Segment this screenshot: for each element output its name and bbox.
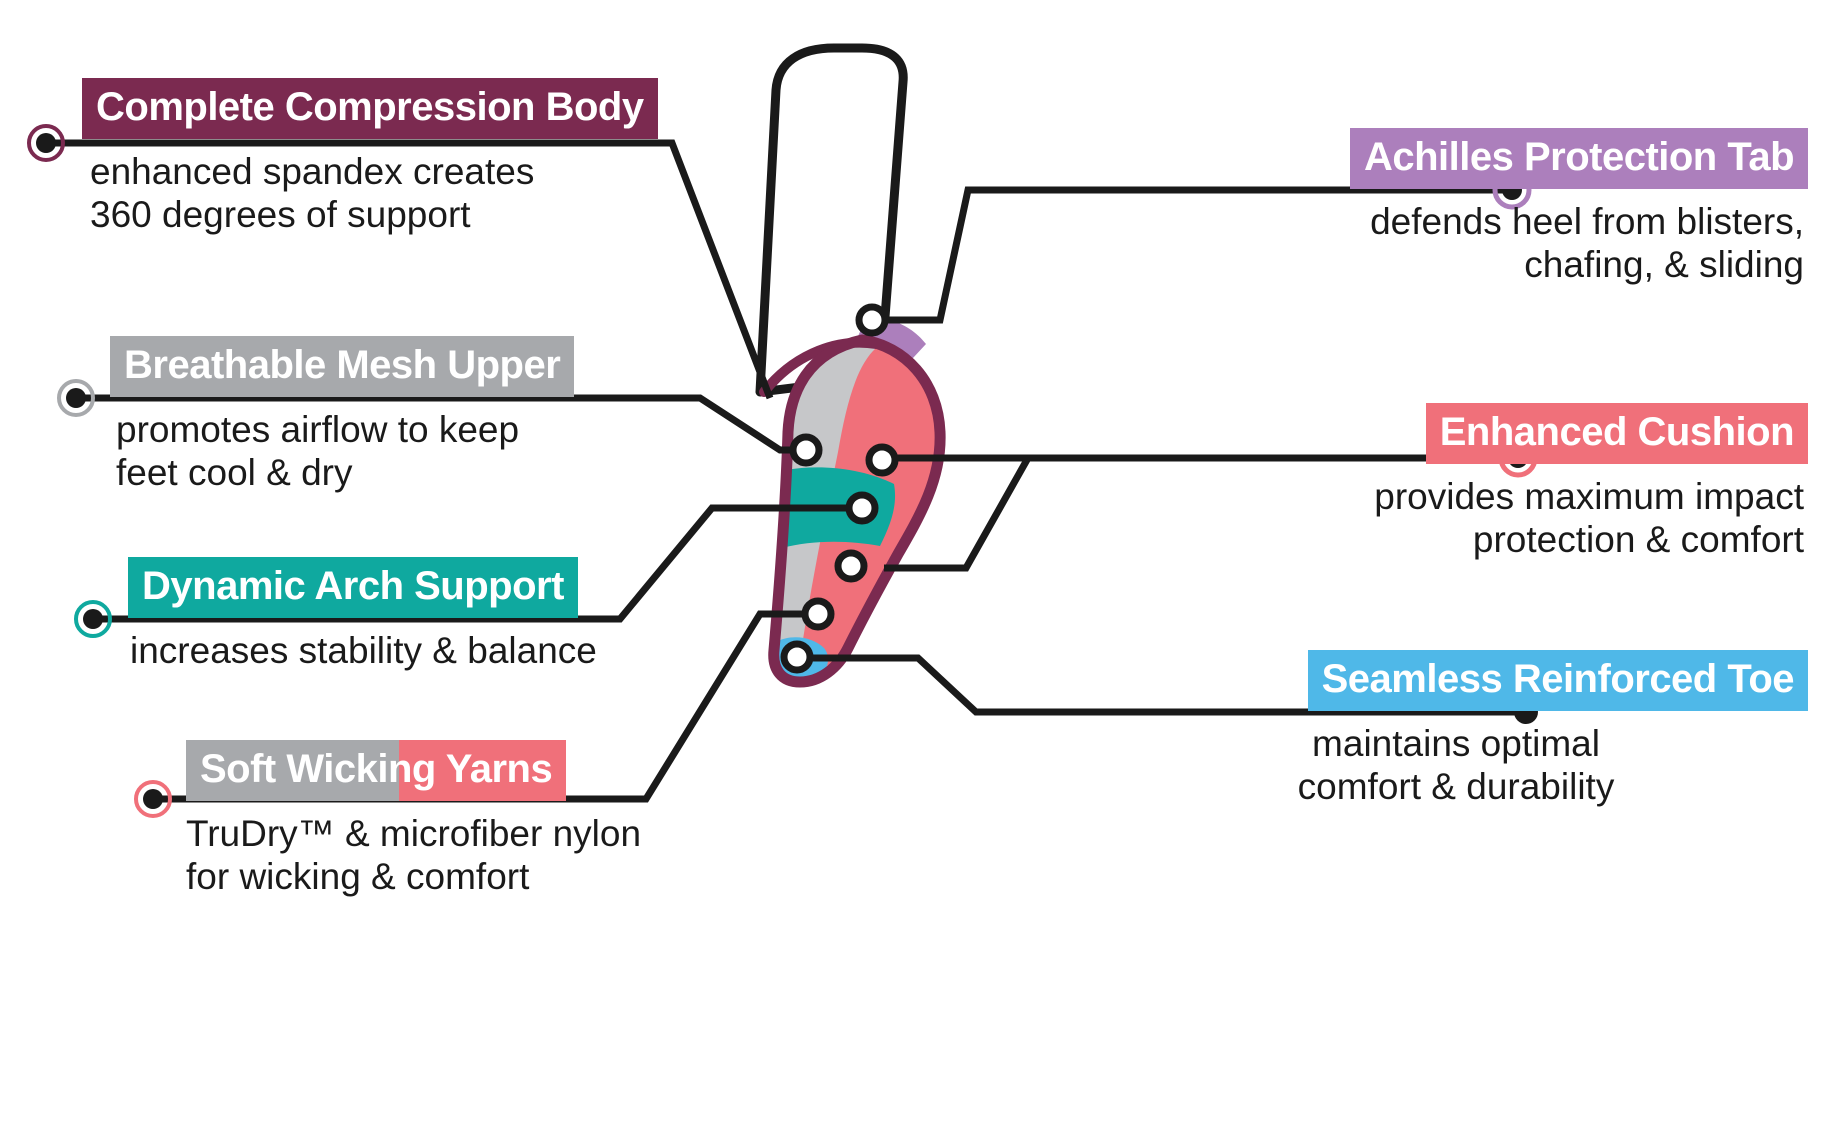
endpoint-dot-soft-wicking-yarns[interactable] bbox=[136, 782, 170, 816]
sock-toe-zone bbox=[771, 637, 828, 684]
callout-enhanced-cushion[interactable]: Enhanced Cushion provides maximum impact… bbox=[1108, 403, 1808, 562]
sock-marker-wicking-yarns bbox=[805, 601, 831, 627]
sock-outline bbox=[774, 340, 940, 682]
callout-description-soft-wicking-yarns: TruDry™ & microfiber nylon for wicking &… bbox=[186, 813, 806, 899]
sock-arch-support-zone bbox=[781, 467, 895, 548]
sock-marker-arch-support bbox=[849, 495, 875, 521]
endpoint-core-dynamic-arch-support bbox=[83, 609, 103, 629]
callout-description-dynamic-arch-support: increases stability & balance bbox=[130, 630, 728, 673]
sock-illustration bbox=[760, 48, 940, 684]
endpoint-dot-dynamic-arch-support[interactable] bbox=[76, 602, 110, 636]
endpoint-dot-complete-compression-body[interactable] bbox=[29, 126, 63, 160]
callout-title-enhanced-cushion: Enhanced Cushion bbox=[1426, 403, 1808, 464]
sock-marker-mesh-upper bbox=[793, 437, 819, 463]
callout-complete-compression-body[interactable]: Complete Compression Body enhanced spand… bbox=[82, 78, 702, 237]
sock-marker-cushion-lower bbox=[838, 553, 864, 579]
callout-title-achilles-protection-tab: Achilles Protection Tab bbox=[1350, 128, 1808, 189]
callout-title-seamless-reinforced-toe: Seamless Reinforced Toe bbox=[1308, 650, 1808, 711]
endpoint-core-complete-compression-body bbox=[36, 133, 56, 153]
callout-title-dynamic-arch-support: Dynamic Arch Support bbox=[128, 557, 578, 618]
sock-cuff-band bbox=[764, 343, 876, 392]
sock-marker-group bbox=[784, 307, 895, 670]
endpoint-core-breathable-mesh-upper bbox=[66, 388, 86, 408]
callout-description-complete-compression-body: enhanced spandex creates 360 degrees of … bbox=[90, 151, 702, 237]
infographic-canvas: Complete Compression Body enhanced spand… bbox=[0, 0, 1838, 1125]
sock-marker-compression bbox=[859, 307, 885, 333]
endpoint-core-soft-wicking-yarns bbox=[143, 789, 163, 809]
callout-soft-wicking-yarns[interactable]: Soft Wicking Yarns TruDry™ & microfiber … bbox=[186, 740, 806, 899]
callout-title-breathable-mesh-upper: Breathable Mesh Upper bbox=[110, 336, 574, 397]
callout-description-enhanced-cushion: provides maximum impact protection & com… bbox=[1108, 476, 1804, 562]
callout-title-complete-compression-body: Complete Compression Body bbox=[82, 78, 658, 139]
callout-breathable-mesh-upper[interactable]: Breathable Mesh Upper promotes airflow t… bbox=[110, 336, 710, 495]
callout-dynamic-arch-support[interactable]: Dynamic Arch Support increases stability… bbox=[128, 557, 728, 673]
callout-achilles-protection-tab[interactable]: Achilles Protection Tab defends heel fro… bbox=[1108, 128, 1808, 287]
sock-marker-cushion-upper bbox=[869, 447, 895, 473]
sock-foot-body-base bbox=[774, 340, 940, 682]
sock-cushion-zone bbox=[802, 348, 940, 668]
endpoint-dot-breathable-mesh-upper[interactable] bbox=[59, 381, 93, 415]
sock-leg-compression-body bbox=[760, 48, 903, 392]
sock-marker-toe bbox=[784, 644, 810, 670]
callout-seamless-reinforced-toe[interactable]: Seamless Reinforced Toe maintains optima… bbox=[1108, 650, 1808, 809]
callout-description-breathable-mesh-upper: promotes airflow to keep feet cool & dry bbox=[116, 409, 710, 495]
sock-achilles-tab-zone bbox=[852, 318, 926, 372]
callout-description-achilles-protection-tab: defends heel from blisters, chafing, & s… bbox=[1108, 201, 1804, 287]
callout-title-soft-wicking-yarns: Soft Wicking Yarns bbox=[186, 740, 566, 801]
callout-description-seamless-reinforced-toe: maintains optimal comfort & durability bbox=[1108, 723, 1804, 809]
